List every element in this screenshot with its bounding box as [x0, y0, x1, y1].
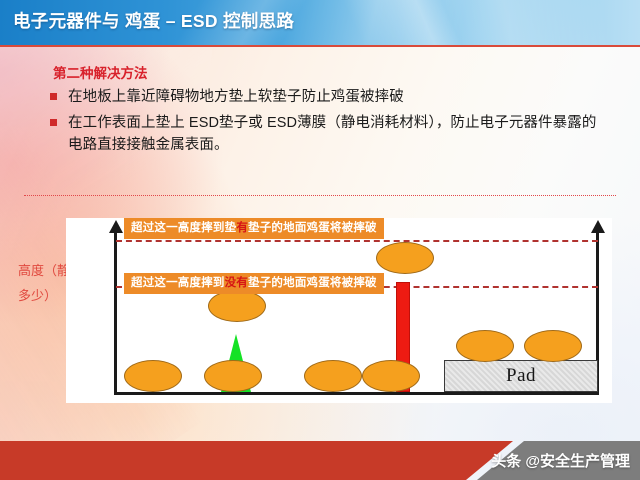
ground-baseline [114, 392, 599, 395]
callout-mid-suffix: 垫子的地面鸡蛋将被摔破 [248, 277, 377, 289]
egg-on-cushion [208, 290, 266, 322]
egg-on-pad-1 [456, 330, 514, 362]
egg-ground-3 [304, 360, 362, 392]
callout-without-pad: 超过这一高度摔到没有垫子的地面鸡蛋将被摔破 [124, 273, 384, 294]
callout-with-pad: 超过这一高度摔到垫有垫子的地面鸡蛋将被摔破 [124, 218, 384, 239]
egg-on-pillar [376, 242, 434, 274]
dotted-divider [24, 195, 616, 196]
arrow-up-icon [109, 220, 123, 233]
slide-root: 电子元器件与 鸡蛋 – ESD 控制思路 第二种解决方法 在地板上靠近障碍物地方… [0, 0, 640, 480]
bullet-list: 在地板上靠近障碍物地方垫上软垫子防止鸡蛋被摔破 在工作表面上垫上 ESD垫子或 … [50, 86, 610, 160]
bullet-square-icon [50, 119, 57, 126]
egg-on-pad-2 [524, 330, 582, 362]
arrow-up-icon [591, 220, 605, 233]
callout-top-prefix: 超过这一高度摔到垫 [131, 222, 236, 234]
bullet-text: 在地板上靠近障碍物地方垫上软垫子防止鸡蛋被摔破 [68, 86, 404, 108]
egg-ground-2 [204, 360, 262, 392]
callout-top-highlight: 有 [236, 222, 248, 234]
egg-ground-1 [124, 360, 182, 392]
footer-watermark: 头条 @安全生产管理 [491, 450, 630, 471]
pad-label: Pad [506, 365, 536, 387]
footer-banner: 头条 @安全生产管理 [0, 441, 640, 480]
list-item: 在工作表面上垫上 ESD垫子或 ESD薄膜（静电消耗材料），防止电子元器件暴露的… [50, 112, 610, 156]
bullet-square-icon [50, 93, 57, 100]
threshold-line-upper [116, 240, 598, 242]
callout-mid-highlight: 没有 [225, 277, 248, 289]
callout-mid-prefix: 超过这一高度摔到 [131, 277, 225, 289]
esd-pad-block: Pad [444, 360, 598, 392]
y-axis-left [114, 231, 117, 395]
page-title: 电子元器件与 鸡蛋 – ESD 控制思路 [13, 8, 294, 33]
callout-top-suffix: 垫子的地面鸡蛋将被摔破 [248, 222, 377, 234]
list-item: 在地板上靠近障碍物地方垫上软垫子防止鸡蛋被摔破 [50, 86, 610, 108]
section-subheading: 第二种解决方法 [53, 62, 148, 82]
bullet-text: 在工作表面上垫上 ESD垫子或 ESD薄膜（静电消耗材料），防止电子元器件暴露的… [68, 112, 610, 156]
esd-diagram-panel: Pad [66, 218, 612, 403]
egg-ground-4 [362, 360, 420, 392]
title-underline [0, 45, 640, 47]
